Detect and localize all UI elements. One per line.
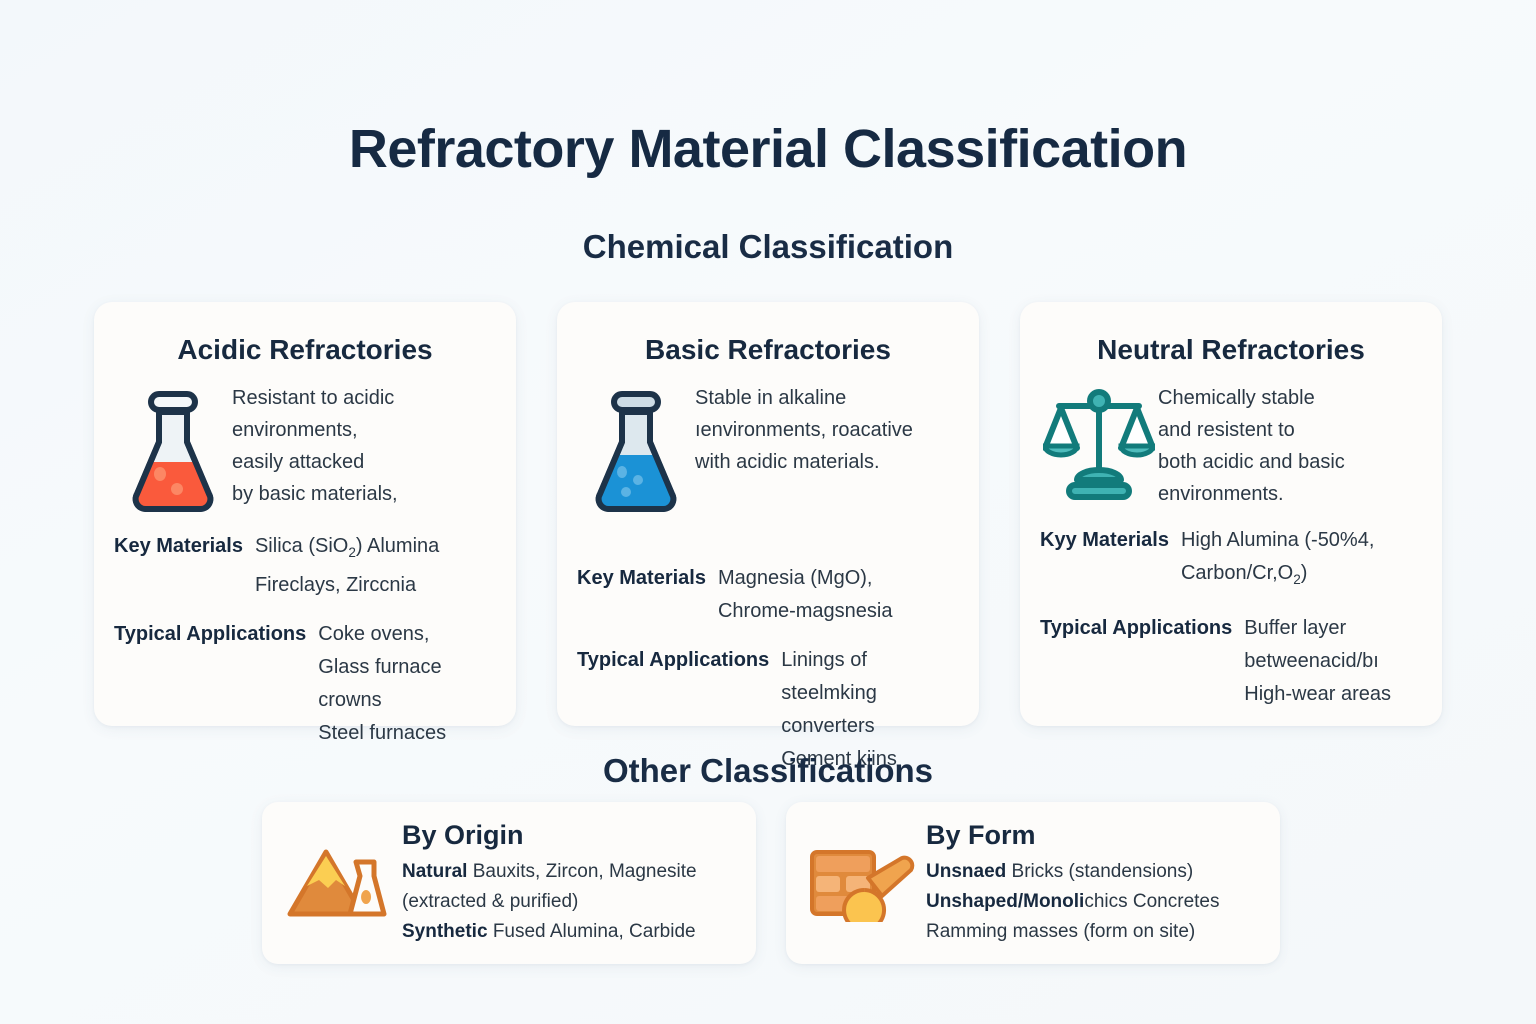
- card-description: Stable in alkaline ıenvironments, roacat…: [695, 380, 913, 478]
- origin-line: Synthetic Fused Alumina, Carbide: [402, 917, 746, 947]
- value-line: Fireclays, Zirccnia: [255, 569, 439, 602]
- form-value-bricks: Bricks (standensions): [1012, 861, 1194, 882]
- card-title: Acidic Refractories: [94, 334, 516, 366]
- key-materials-block: Key Materials Silica (SiO2) Alumina Fire…: [94, 530, 516, 602]
- form-line: Unsnaed Bricks (standensions): [926, 857, 1270, 887]
- value-line: High Alumina (-50%4,: [1181, 524, 1374, 557]
- key-materials-block: Kyy Materials High Alumina (-50%4, Carbo…: [1020, 524, 1442, 596]
- desc-line: with acidic materials.: [695, 446, 913, 478]
- origin-value-synthetic: Fused Alumina, Carbide: [493, 921, 696, 942]
- key-materials-values: Silica (SiO2) Alumina Fireclays, Zirccni…: [255, 530, 439, 602]
- flask-blue-icon: [577, 380, 695, 516]
- card-basic-refractories[interactable]: Basic Refractories Stable in alkaline ıe…: [557, 302, 979, 726]
- value-line: converters: [781, 710, 965, 743]
- section-heading-chemical: Chemical Classification: [0, 228, 1536, 266]
- applications-values: Coke ovens, Glass furnace crowns Steel f…: [318, 618, 502, 750]
- desc-line: and resistent to: [1158, 414, 1345, 446]
- value-line: Coke ovens,: [318, 618, 502, 651]
- value-line: High-wear areas: [1244, 678, 1391, 711]
- applications-block: Typical Applications Buffer layer betwee…: [1020, 612, 1442, 711]
- value-line: Buffer layer: [1244, 612, 1391, 645]
- origin-label-natural: Natural: [402, 861, 467, 882]
- card-by-origin[interactable]: By Origin Natural Bauxits, Zircon, Magne…: [262, 802, 756, 964]
- value-line: Carbon/Cr,O2): [1181, 557, 1374, 596]
- key-materials-values: High Alumina (-50%4, Carbon/Cr,O2): [1181, 524, 1374, 596]
- key-materials-label: Kyy Materials: [1040, 529, 1169, 552]
- card-description: Chemically stable and resistent to both …: [1158, 380, 1345, 510]
- value-line: Glass furnace crowns: [318, 651, 502, 717]
- card-body: By Origin Natural Bauxits, Zircon, Magne…: [398, 820, 746, 947]
- flask-orange-icon: [114, 380, 232, 516]
- mountain-flask-icon: [278, 844, 398, 922]
- card-body: By Form Unsnaed Bricks (standensions) Un…: [922, 820, 1270, 947]
- origin-line: Natural Bauxits, Zircon, Magnesite: [402, 857, 746, 887]
- card-title: By Form: [926, 820, 1270, 851]
- card-description: Resistant to acidic environments, easily…: [232, 380, 398, 510]
- desc-line: Resistant to acidic: [232, 382, 398, 414]
- origin-note: (extracted & purified): [402, 891, 578, 912]
- desc-line: both acidic and basic: [1158, 446, 1345, 478]
- origin-value-natural: Bauxits, Zircon, Magnesite: [473, 861, 697, 882]
- balance-scale-icon: [1040, 380, 1158, 502]
- key-materials-values: Magnesia (MgO), Chrome-magsnesia: [718, 562, 893, 628]
- other-cards-row: By Origin Natural Bauxits, Zircon, Magne…: [262, 802, 1280, 964]
- form-label-unshaped: Unsnaed: [926, 861, 1006, 882]
- card-title: Neutral Refractories: [1020, 334, 1442, 366]
- key-materials-label: Key Materials: [114, 535, 243, 558]
- applications-values: Buffer layer betweenacid/bı High-wear ar…: [1244, 612, 1391, 711]
- card-acidic-refractories[interactable]: Acidic Refractories Resistant to acidic …: [94, 302, 516, 726]
- desc-line: Stable in alkaline: [695, 382, 913, 414]
- value-line: Silica (SiO2) Alumina: [255, 530, 439, 569]
- value-line: Linings of steelmking: [781, 644, 965, 710]
- card-title: Basic Refractories: [557, 334, 979, 366]
- desc-line: easily attacked: [232, 446, 398, 478]
- desc-line: by basic materials,: [232, 478, 398, 510]
- form-value-concretes: chics Concretes: [1084, 891, 1219, 912]
- card-top-block: Resistant to acidic environments, easily…: [94, 380, 516, 516]
- section-heading-other: Other Classifications: [0, 752, 1536, 790]
- applications-label: Typical Applications: [114, 623, 306, 646]
- desc-line: environments.: [1158, 478, 1345, 510]
- value-line: Magnesia (MgO),: [718, 562, 893, 595]
- value-line: Steel furnaces: [318, 717, 502, 750]
- applications-label: Typical Applications: [577, 649, 769, 672]
- desc-line: environments,: [232, 414, 398, 446]
- form-note: Ramming masses (form on site): [926, 921, 1195, 942]
- card-by-form[interactable]: By Form Unsnaed Bricks (standensions) Un…: [786, 802, 1280, 964]
- value-line: betweenacid/bı: [1244, 645, 1391, 678]
- brick-trowel-icon: [802, 844, 922, 922]
- key-materials-block: Key Materials Magnesia (MgO), Chrome-mag…: [557, 562, 979, 628]
- chemical-cards-row: Acidic Refractories Resistant to acidic …: [94, 302, 1442, 726]
- card-neutral-refractories[interactable]: Neutral Refractories Ch: [1020, 302, 1442, 726]
- card-top-block: Chemically stable and resistent to both …: [1020, 380, 1442, 510]
- page-title: Refractory Material Classification: [0, 118, 1536, 180]
- key-materials-label: Key Materials: [577, 567, 706, 590]
- form-line: Ramming masses (form on site): [926, 917, 1270, 947]
- origin-label-synthetic: Synthetic: [402, 921, 488, 942]
- applications-label: Typical Applications: [1040, 617, 1232, 640]
- applications-block: Typical Applications Coke ovens, Glass f…: [94, 618, 516, 750]
- desc-line: Chemically stable: [1158, 382, 1345, 414]
- desc-line: ıenvironments, roacative: [695, 414, 913, 446]
- form-line: Unshaped/Monolichics Concretes: [926, 887, 1270, 917]
- form-label-monolithics: Unshaped/Monoli: [926, 891, 1084, 912]
- value-line: Chrome-magsnesia: [718, 595, 893, 628]
- card-title: By Origin: [402, 820, 746, 851]
- card-top-block: Stable in alkaline ıenvironments, roacat…: [557, 380, 979, 516]
- origin-line: (extracted & purified): [402, 887, 746, 917]
